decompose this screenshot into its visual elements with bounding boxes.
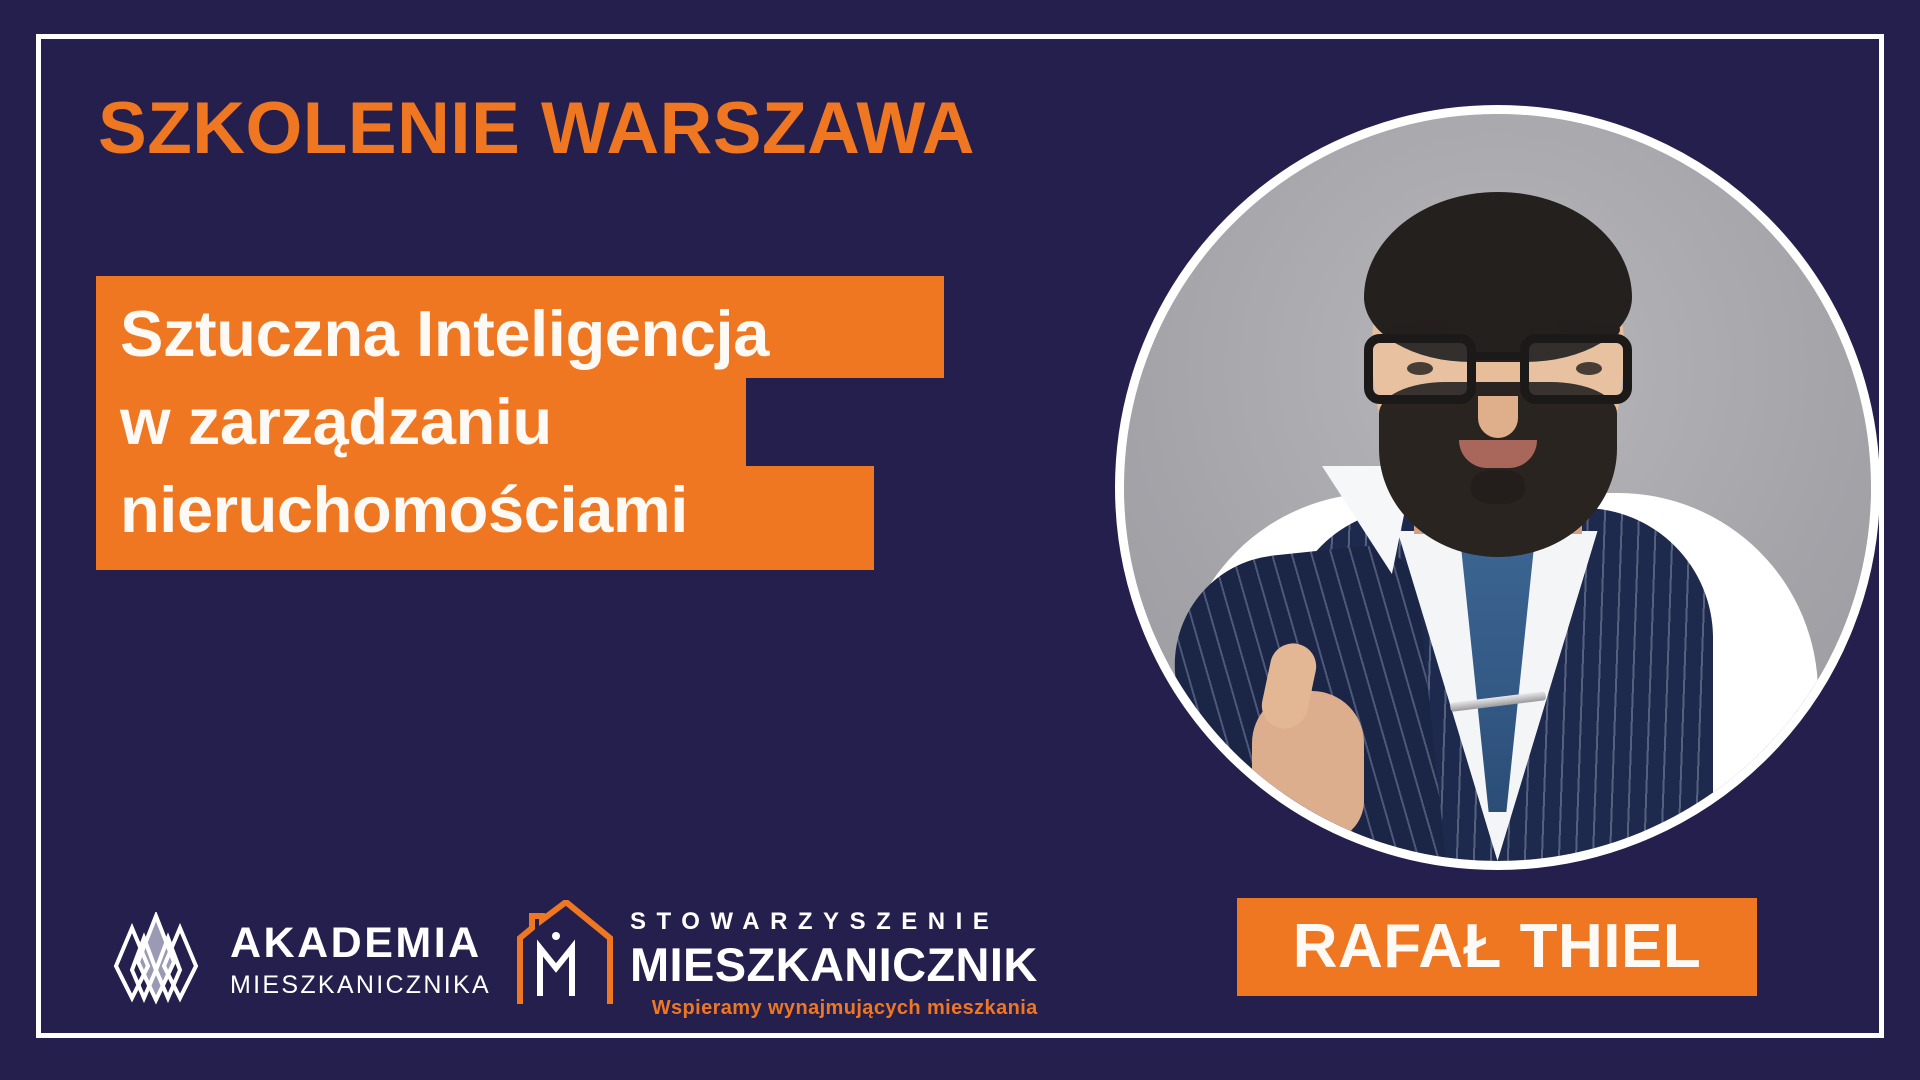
title-line-3: nieruchomościami: [96, 466, 874, 570]
logo-stowarzyszenie-mieszkanicznik: STOWARZYSZENIE MIESZKANICZNIK Wspieramy …: [514, 900, 1038, 1018]
portrait-photo: [1124, 114, 1871, 861]
akademia-name: AKADEMIA: [230, 922, 491, 965]
mieszkanicznik-tagline: Wspieramy wynajmujących mieszkania: [652, 998, 1038, 1018]
glasses-icon: [1364, 332, 1632, 408]
mieszkanicznik-label: MIESZKANICZNIK: [630, 941, 1038, 988]
speaker-name-badge: RAFAŁ THIEL: [1237, 898, 1757, 996]
crown-icon: [104, 912, 208, 1008]
title-block: Sztuczna Inteligencja w zarządzaniu nier…: [96, 276, 944, 570]
event-banner: SZKOLENIE WARSZAWA Sztuczna Inteligencja…: [0, 0, 1920, 1080]
stowarzyszenie-label: STOWARZYSZENIE: [630, 910, 1038, 934]
speaker-portrait: [1115, 105, 1880, 870]
logo-akademia-mieszkanicznika: AKADEMIA MIESZKANICZNIKA: [104, 912, 491, 1008]
akademia-subname: MIESZKANICZNIKA: [230, 973, 491, 998]
eyebrow-heading: SZKOLENIE WARSZAWA: [98, 92, 975, 165]
title-line-2: w zarządzaniu: [96, 378, 746, 466]
house-m-icon: [514, 900, 616, 1012]
title-line-1: Sztuczna Inteligencja: [96, 276, 944, 378]
speaker-name: RAFAŁ THIEL: [1293, 916, 1701, 978]
